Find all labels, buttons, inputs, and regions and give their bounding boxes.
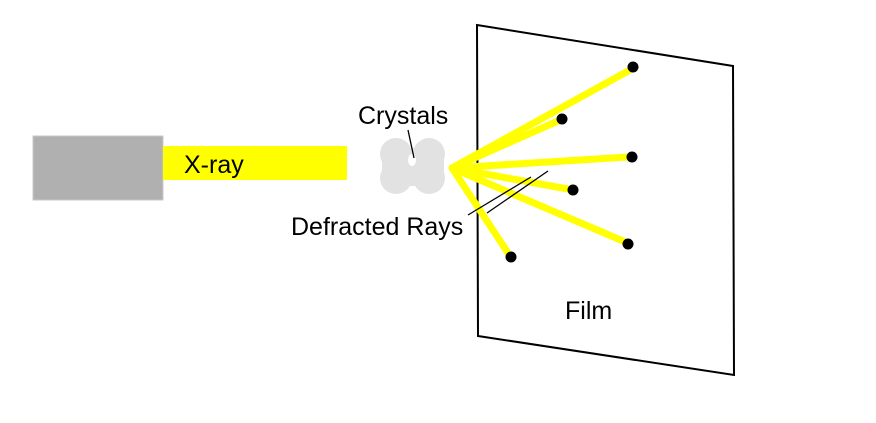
x-ray-beam-label: X-ray — [184, 151, 244, 179]
crystals-blob — [380, 138, 445, 194]
diffraction-spot-5 — [623, 239, 634, 250]
diffraction-spot-3 — [627, 152, 638, 163]
diffraction-spot-6 — [506, 252, 517, 263]
defracted-rays-label: Defracted Rays — [291, 213, 463, 241]
crystal-center-dot — [408, 154, 416, 166]
xray-diffraction-diagram: X-ray Crystals Defracted Rays Film — [0, 0, 876, 423]
diffraction-spot-4 — [568, 185, 579, 196]
x-ray-source-box — [33, 136, 163, 200]
diffraction-spot-2 — [557, 114, 568, 125]
diffraction-spot-1 — [628, 62, 639, 73]
crystals-label: Crystals — [358, 102, 448, 130]
film-label: Film — [565, 297, 612, 325]
diagram-canvas: X-ray Crystals Defracted Rays Film — [0, 0, 876, 423]
